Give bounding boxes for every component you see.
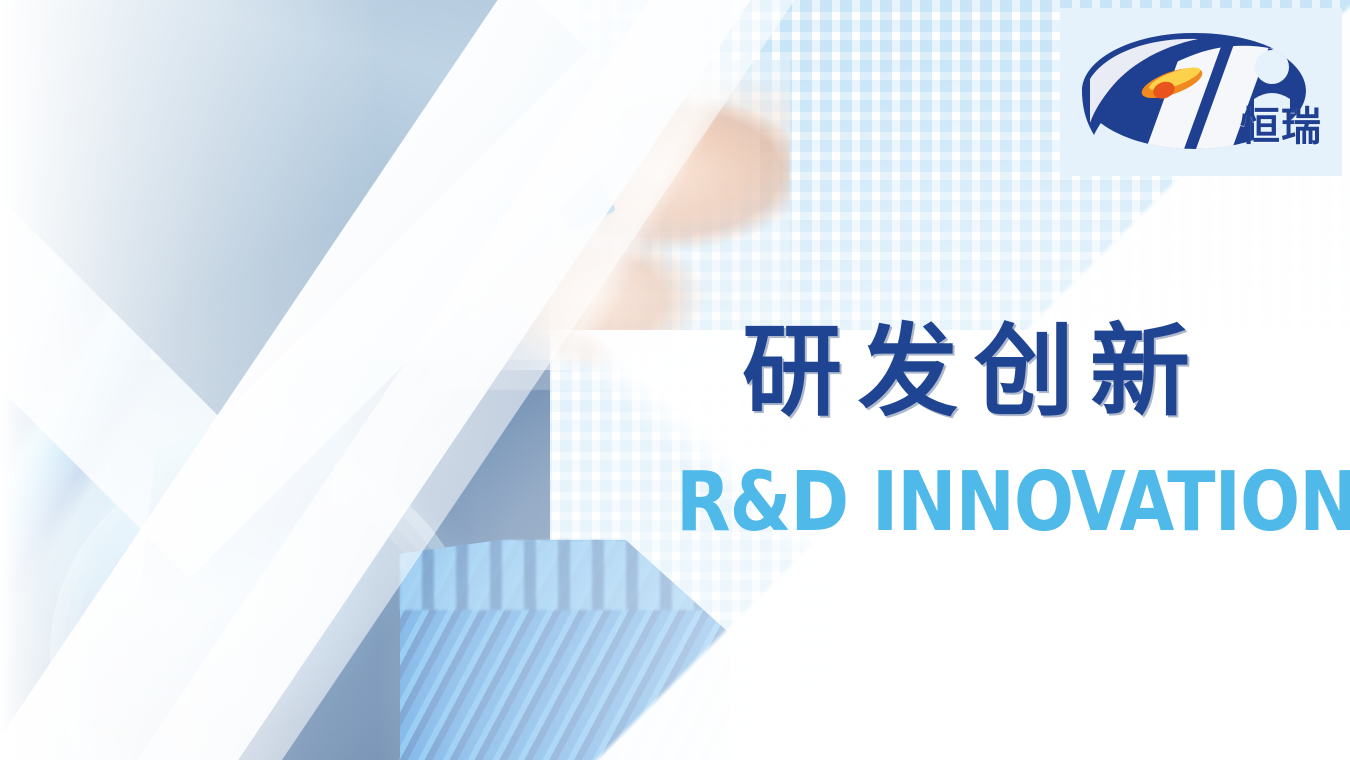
headline-block: 研发创新 [742,322,1342,422]
headline-english: R&D INNOVATION [676,462,1319,544]
hengrui-logo-plate[interactable]: 恒瑞 [1060,8,1342,176]
logo-chinese-text: 恒瑞 [1240,107,1322,147]
headline-chinese: 研发创新 [742,322,1342,422]
subheadline-block: R&D INNOVATION [676,462,1346,544]
hengrui-logo-mark: 恒瑞 [1076,27,1326,157]
rd-innovation-banner: 恒瑞 研发创新 R&D INNOVATION [0,0,1350,760]
